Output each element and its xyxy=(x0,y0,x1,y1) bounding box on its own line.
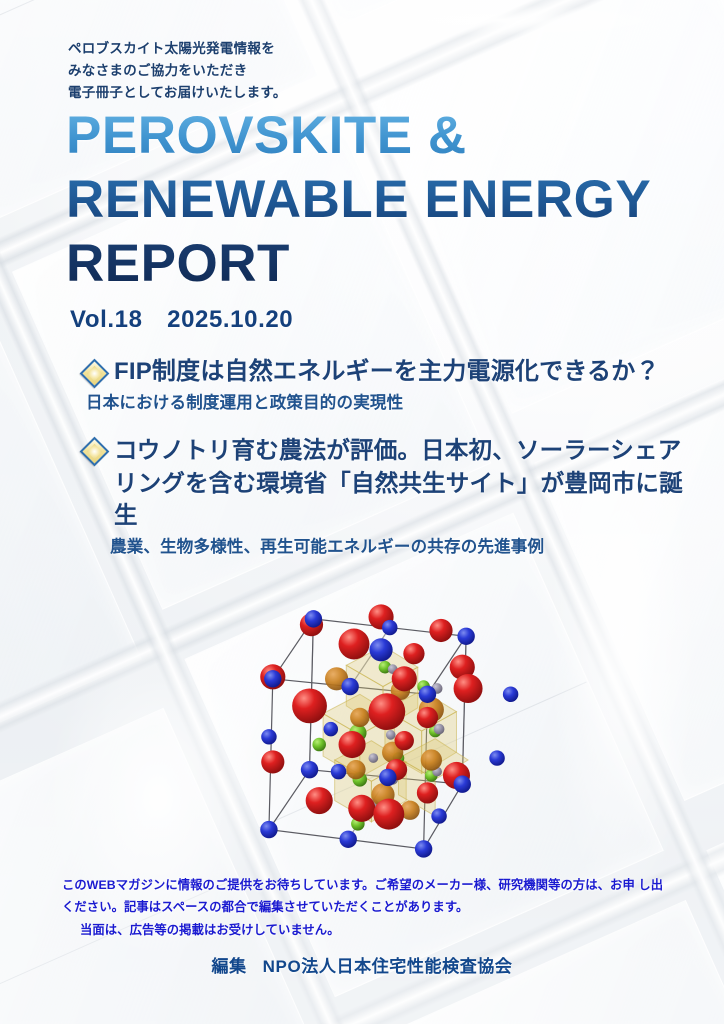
credit-label: 編集 xyxy=(211,957,246,976)
submission-notice: このWEBマガジンに情報のご提供をお待ちしています。ご希望のメーカー様、研究機関… xyxy=(62,874,672,941)
diamond-bullet-icon xyxy=(80,359,110,389)
cover-kicker-text: ペロブスカイト太陽光発電情報を みなさまのご協力をいただき 電子冊子としてお届け… xyxy=(68,38,287,104)
credit-organization: NPO法人日本住宅性能検査協会 xyxy=(263,957,513,976)
story-deck: 日本における制度運用と政策目的の実現性 xyxy=(86,392,684,416)
volume-and-date: Vol.18 2025.10.20 xyxy=(70,299,293,334)
editor-credit: 編集NPO法人日本住宅性能検査協会 xyxy=(0,952,724,977)
masthead-line-3: REPORT xyxy=(66,234,696,294)
diamond-bullet-icon xyxy=(80,437,110,467)
story-headline: FIP制度は自然エネルギーを主力電源化できるか？ xyxy=(114,356,684,388)
masthead-line-1: PEROVSKITE & xyxy=(66,106,696,166)
notice-line-1: このWEBマガジンに情報のご提供をお待ちしています。ご希望のメーカー様、研究機関… xyxy=(62,878,635,892)
notice-line-3: 当面は、広告等の掲載はお受けしていません。 xyxy=(62,919,672,941)
story-headline: コウノトリ育む農法が評価。日本初、ソーラーシェアリングを含む環境省「自然共生サイ… xyxy=(114,434,684,531)
cover-story-item[interactable]: コウノトリ育む農法が評価。日本初、ソーラーシェアリングを含む環境省「自然共生サイ… xyxy=(84,434,684,559)
story-headline-row: コウノトリ育む農法が評価。日本初、ソーラーシェアリングを含む環境省「自然共生サイ… xyxy=(84,434,684,531)
cover-story-list: FIP制度は自然エネルギーを主力電源化できるか？ 日本における制度運用と政策目的… xyxy=(84,356,684,578)
masthead-line-2: RENEWABLE ENERGY xyxy=(66,170,696,230)
story-headline-row: FIP制度は自然エネルギーを主力電源化できるか？ xyxy=(84,356,684,388)
masthead-title: PEROVSKITE & RENEWABLE ENERGY REPORT xyxy=(66,106,696,298)
story-deck: 農業、生物多様性、再生可能エネルギーの共存の先進事例 xyxy=(110,536,684,560)
magazine-cover: ペロブスカイト太陽光発電情報を みなさまのご協力をいただき 電子冊子としてお届け… xyxy=(0,0,724,1024)
cover-story-item[interactable]: FIP制度は自然エネルギーを主力電源化できるか？ 日本における制度運用と政策目的… xyxy=(84,356,684,416)
